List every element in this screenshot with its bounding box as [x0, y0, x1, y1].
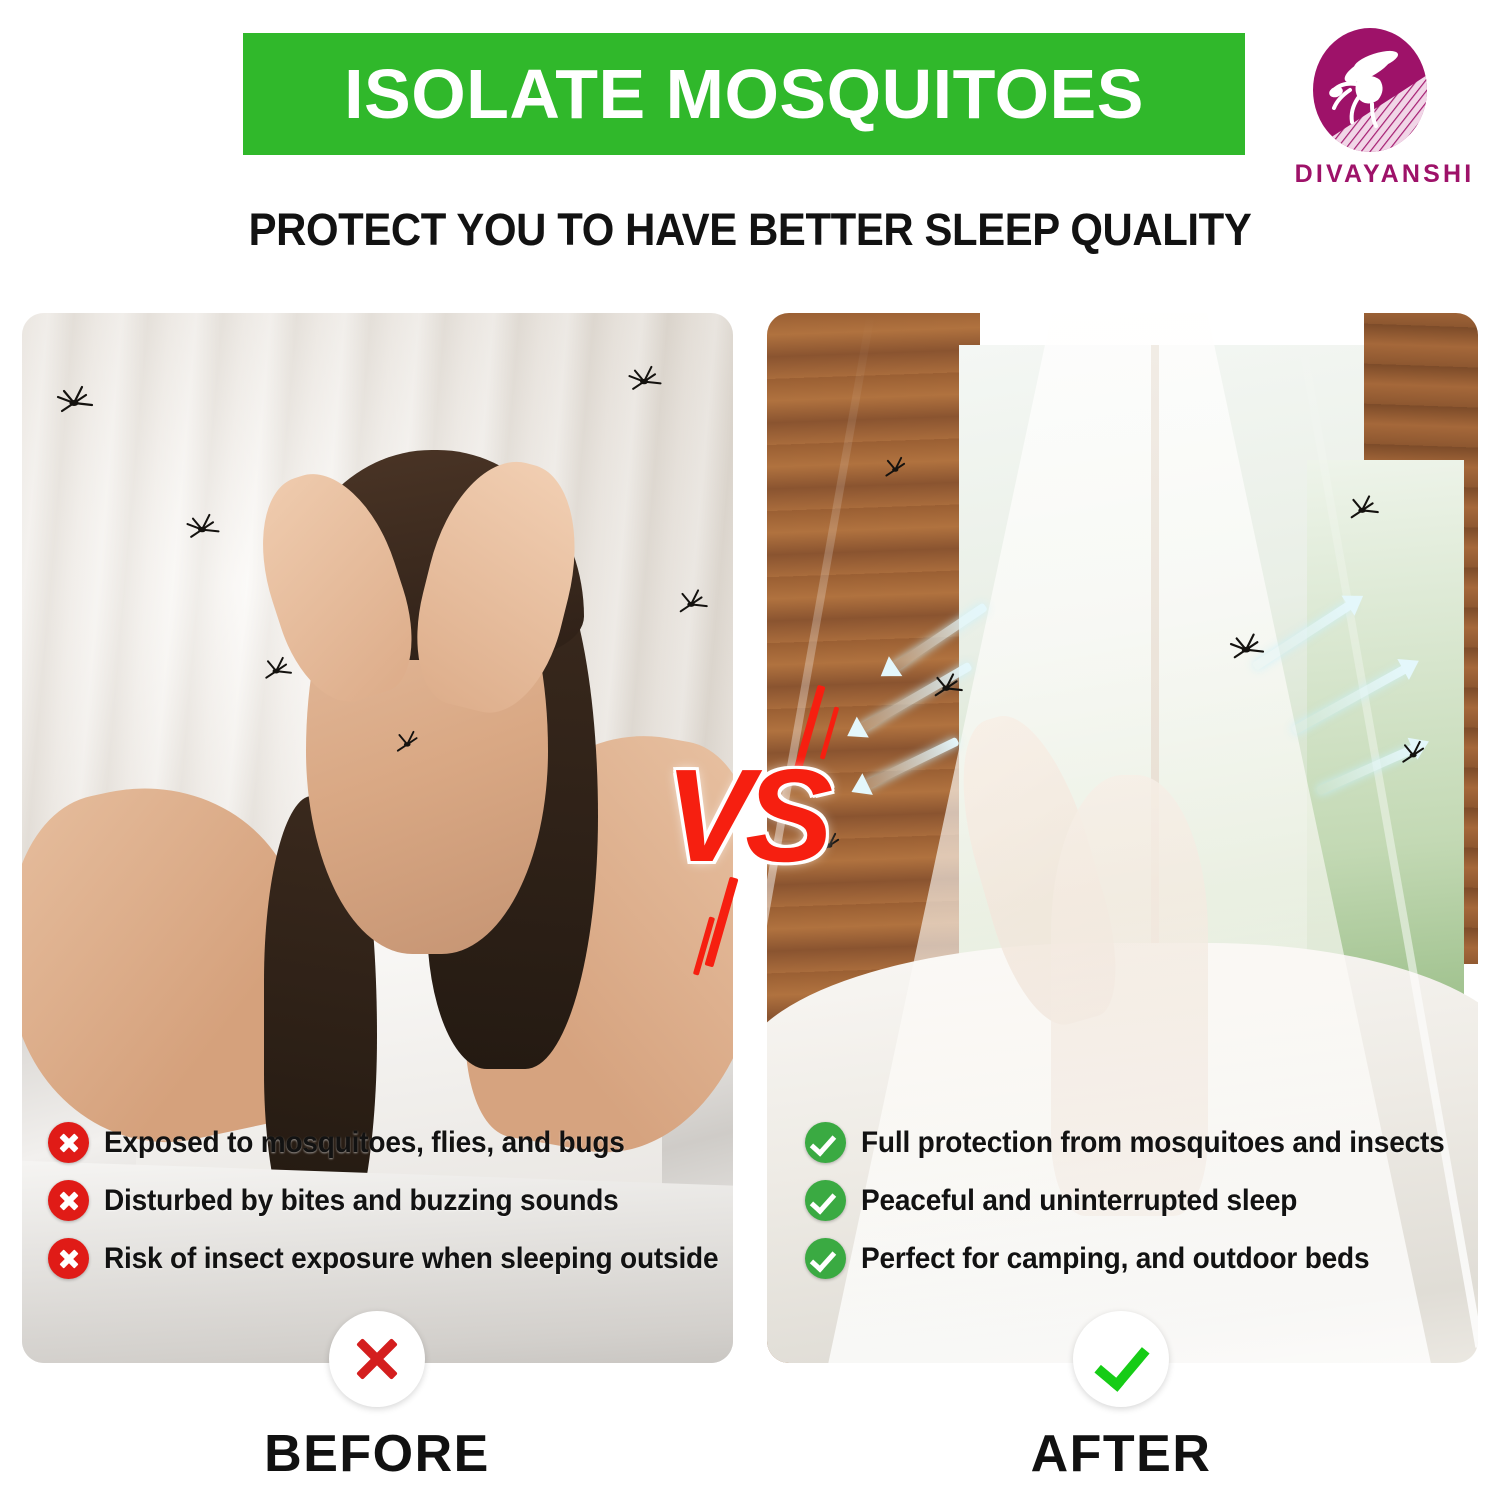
x-circle-icon — [48, 1238, 89, 1279]
list-item: Exposed to mosquitoes, flies, and bugs — [48, 1122, 708, 1163]
check-circle-icon — [805, 1180, 846, 1221]
mosquito-icon — [927, 669, 967, 699]
after-bullet-list: Full protection from mosquitoes and inse… — [805, 1122, 1465, 1279]
before-panel: Exposed to mosquitoes, flies, and bugs D… — [22, 313, 733, 1363]
bullet-label: Perfect for camping, and outdoor beds — [861, 1242, 1369, 1276]
before-bullet-list: Exposed to mosquitoes, flies, and bugs D… — [48, 1122, 708, 1279]
bullet-label: Full protection from mosquitoes and inse… — [861, 1126, 1445, 1160]
mosquito-icon — [672, 585, 712, 615]
mosquito-icon — [1225, 629, 1269, 661]
logo-wordmark: DIVAYANSHI — [1282, 160, 1487, 189]
bullet-label: Exposed to mosquitoes, flies, and bugs — [104, 1126, 625, 1160]
list-item: Full protection from mosquitoes and inse… — [805, 1122, 1465, 1163]
title-banner: ISOLATE MOSQUITOES — [243, 33, 1245, 155]
before-badge — [329, 1311, 425, 1407]
check-circle-icon — [805, 1238, 846, 1279]
x-circle-icon — [48, 1122, 89, 1163]
bullet-label: Peaceful and uninterrupted sleep — [861, 1184, 1297, 1218]
green-check-icon — [1094, 1332, 1148, 1386]
list-item: Perfect for camping, and outdoor beds — [805, 1238, 1465, 1279]
brand-logo: DIVAYANSHI — [1282, 28, 1487, 200]
after-badge — [1073, 1311, 1169, 1407]
banner-title: ISOLATE MOSQUITOES — [344, 54, 1144, 134]
mosquito-icon — [624, 361, 666, 393]
list-item: Peaceful and uninterrupted sleep — [805, 1180, 1465, 1221]
bullet-label: Disturbed by bites and buzzing sounds — [104, 1184, 619, 1218]
mosquito-icon — [390, 727, 426, 754]
check-circle-icon — [805, 1122, 846, 1163]
bullet-label: Risk of insect exposure when sleeping ou… — [104, 1242, 718, 1276]
mosquito-icon — [879, 453, 913, 479]
list-item: Risk of insect exposure when sleeping ou… — [48, 1238, 708, 1279]
page-header: ISOLATE MOSQUITOES — [0, 0, 1500, 205]
before-label: BEFORE — [177, 1424, 577, 1484]
red-x-icon — [351, 1333, 403, 1385]
mosquito-icon — [52, 381, 98, 415]
mosquito-icon — [1343, 491, 1383, 521]
list-item: Disturbed by bites and buzzing sounds — [48, 1180, 708, 1221]
after-label: AFTER — [921, 1424, 1321, 1484]
mosquito-net-logo-icon — [1306, 28, 1434, 156]
x-circle-icon — [48, 1180, 89, 1221]
page-subtitle: PROTECT YOU TO HAVE BETTER SLEEP QUALITY — [53, 204, 1448, 256]
mosquito-icon — [813, 829, 847, 855]
after-panel: Full protection from mosquitoes and inse… — [767, 313, 1478, 1363]
mosquito-icon — [258, 653, 296, 681]
mosquito-icon — [1395, 737, 1433, 765]
mosquito-icon — [182, 509, 224, 541]
